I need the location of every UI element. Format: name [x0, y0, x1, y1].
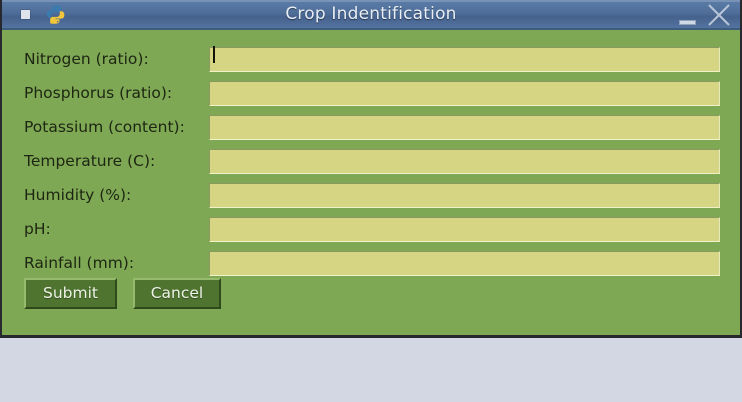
rainfall-input[interactable]: [209, 251, 720, 276]
window-controls: [672, 0, 734, 30]
label-temperature: Temperature (C):: [24, 152, 155, 170]
potassium-input[interactable]: [209, 115, 720, 140]
crop-identification-window: Crop Indentification Nitrogen (ratio):: [0, 0, 742, 338]
python-logo-icon: [44, 3, 66, 25]
ph-input[interactable]: [209, 217, 720, 242]
submit-button[interactable]: Submit: [24, 278, 117, 309]
form-row-temperature: Temperature (C):: [2, 144, 740, 178]
minimize-button[interactable]: [672, 0, 702, 30]
cancel-button[interactable]: Cancel: [133, 278, 221, 309]
window-titlebar[interactable]: Crop Indentification: [2, 0, 740, 30]
temperature-input[interactable]: [209, 149, 720, 174]
window-title: Crop Indentification: [2, 4, 740, 24]
label-ph: pH:: [24, 220, 51, 238]
form-row-nitrogen: Nitrogen (ratio):: [2, 42, 740, 76]
label-rainfall: Rainfall (mm):: [24, 254, 134, 272]
window-menu-icon[interactable]: [21, 10, 30, 19]
form-row-ph: pH:: [2, 212, 740, 246]
phosphorus-input[interactable]: [209, 81, 720, 106]
label-potassium: Potassium (content):: [24, 118, 185, 136]
form-row-rainfall: Rainfall (mm):: [2, 246, 740, 280]
close-icon: [706, 2, 732, 28]
desktop-background: Crop Indentification Nitrogen (ratio):: [0, 0, 742, 402]
close-button[interactable]: [704, 0, 734, 30]
form-row-phosphorus: Phosphorus (ratio):: [2, 76, 740, 110]
crop-input-form: Nitrogen (ratio): Phosphorus (ratio): Po…: [2, 30, 740, 335]
form-row-humidity: Humidity (%):: [2, 178, 740, 212]
form-row-potassium: Potassium (content):: [2, 110, 740, 144]
nitrogen-input[interactable]: [209, 47, 720, 72]
text-caret: [213, 46, 215, 63]
label-phosphorus: Phosphorus (ratio):: [24, 84, 172, 102]
form-button-row: Submit Cancel: [2, 276, 221, 310]
minimize-icon: [679, 20, 696, 25]
label-humidity: Humidity (%):: [24, 186, 131, 204]
humidity-input[interactable]: [209, 183, 720, 208]
label-nitrogen: Nitrogen (ratio):: [24, 50, 149, 68]
